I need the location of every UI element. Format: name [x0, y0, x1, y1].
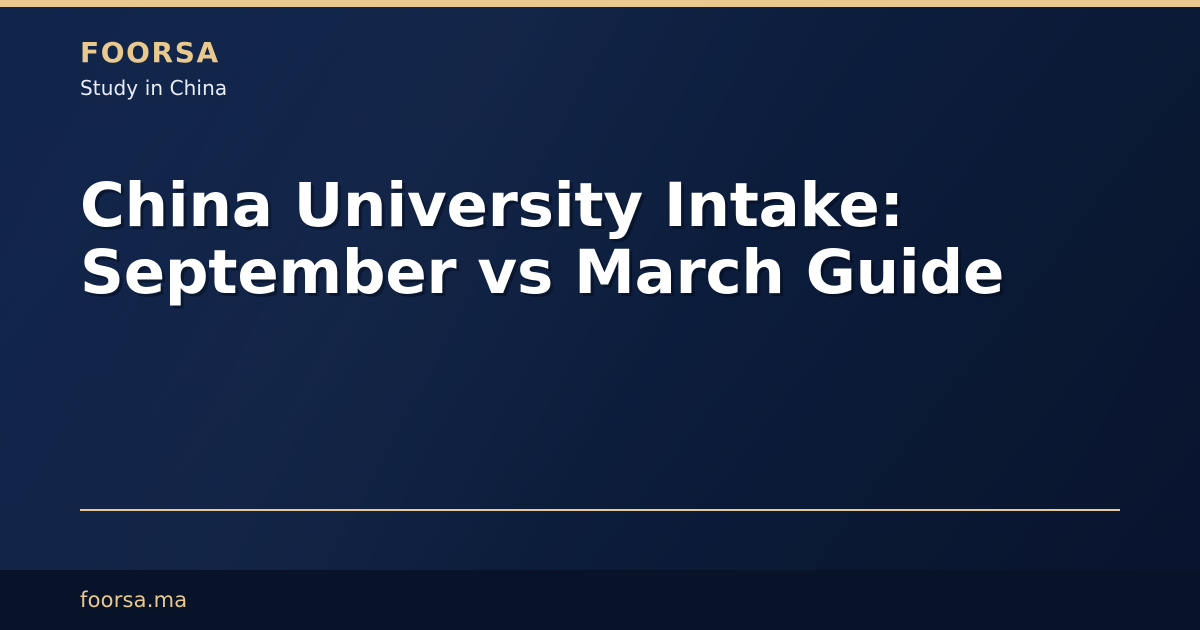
- headline-line-1: China University Intake:: [80, 172, 1120, 239]
- brand-block: FOORSA Study in China: [80, 38, 227, 100]
- footer-band: foorsa.ma: [0, 570, 1200, 630]
- og-card: FOORSA Study in China China University I…: [0, 0, 1200, 630]
- gold-divider-rule: [80, 509, 1120, 511]
- page-title: China University Intake: September vs Ma…: [80, 172, 1120, 306]
- footer-website-url: foorsa.ma: [80, 588, 187, 612]
- brand-tagline: Study in China: [80, 76, 227, 100]
- top-gold-accent-bar: [0, 0, 1200, 7]
- headline-line-2: September vs March Guide: [80, 239, 1120, 306]
- brand-name: FOORSA: [80, 38, 227, 67]
